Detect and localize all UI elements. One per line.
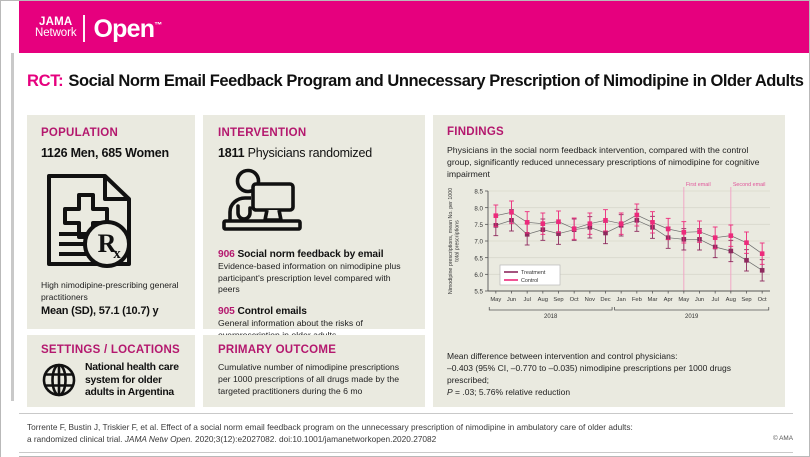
citation-journal: JAMA Netw Open. xyxy=(125,434,193,444)
citation-doi: 2020;3(12):e2027082. doi:10.1001/jamanet… xyxy=(193,434,437,444)
citation: Torrente F, Bustin J, Triskier F, et al.… xyxy=(27,421,727,445)
population-subtitle: 1126 Men, 685 Women xyxy=(41,146,182,160)
logo-network-text: Network xyxy=(35,28,76,40)
x-axis-year-bracket xyxy=(615,307,769,310)
intervention-arm-title: 905 Control emails xyxy=(218,306,411,317)
y-axis-title: total prescriptions xyxy=(454,220,460,262)
x-axis-year-label: 2019 xyxy=(685,314,699,320)
x-axis-tick-label: Sep xyxy=(553,297,563,303)
intervention-arm-count: 905 xyxy=(218,306,235,317)
population-footnote-text: High nimodipine-prescribing general prac… xyxy=(41,280,185,303)
copyright-notice: © AMA xyxy=(773,435,793,442)
x-axis-tick-label: Oct xyxy=(570,297,579,303)
globe-icon xyxy=(41,362,77,403)
x-axis-tick-label: May xyxy=(490,297,501,303)
population-footnote: High nimodipine-prescribing general prac… xyxy=(41,280,185,317)
legend-label: Control xyxy=(521,278,538,284)
y-axis-title: Nimodipine prescriptions, mean No. per 1… xyxy=(448,188,454,294)
findings-footer-line3: P = .03; 5.76% relative reduction xyxy=(447,386,773,398)
x-axis-tick-label: Feb xyxy=(632,297,642,303)
citation-line1: Torrente F, Bustin J, Triskier F, et al.… xyxy=(27,421,727,433)
legend-label: Treatment xyxy=(521,270,546,276)
page-title: RCT: Social Norm Email Feedback Program … xyxy=(27,67,795,95)
data-point-marker xyxy=(729,233,734,238)
physician-at-computer-icon xyxy=(220,168,411,239)
logo-open-wordmark: Open™ xyxy=(85,17,161,42)
chart-series-control xyxy=(493,201,764,264)
x-axis-tick-label: Nov xyxy=(585,297,595,303)
y-axis-tick-label: 6.0 xyxy=(474,272,483,279)
x-axis-tick-label: Jul xyxy=(711,297,718,303)
p-value-text: = .03; 5.76% relative reduction xyxy=(453,387,570,397)
y-axis-tick-label: 6.5 xyxy=(474,255,483,262)
logo-trademark: ™ xyxy=(154,20,161,29)
intervention-randomized-count: 1811 xyxy=(218,146,244,160)
data-point-marker xyxy=(541,221,546,226)
citation-line2: a randomized clinical trial. JAMA Netw O… xyxy=(27,433,727,445)
title-text: Social Norm Email Feedback Program and U… xyxy=(68,72,803,91)
outcome-heading: PRIMARY OUTCOME xyxy=(218,344,413,356)
data-point-marker xyxy=(682,230,687,235)
data-point-marker xyxy=(619,221,624,226)
findings-footer-line1: Mean difference between intervention and… xyxy=(447,350,773,362)
settings-text: National health care system for older ad… xyxy=(85,362,185,400)
findings-description: Physicians in the social norm feedback i… xyxy=(447,144,772,180)
findings-footer-line2: –0.403 (95% CI, –0.770 to –0.035) nimodi… xyxy=(447,362,773,386)
intervention-arm-description: Evidence-based information on nimodipine… xyxy=(218,261,411,296)
data-point-marker xyxy=(697,229,702,234)
left-accent-strip xyxy=(1,1,19,457)
jama-network-open-logo[interactable]: JAMA Network Open™ xyxy=(35,13,161,43)
x-axis-tick-label: Aug xyxy=(726,297,736,303)
chart-annotation-label: First email xyxy=(686,182,711,188)
population-panel: POPULATION 1126 Men, 685 Women R x High … xyxy=(27,115,195,329)
footer-divider xyxy=(19,413,793,414)
x-axis-tick-label: Apr xyxy=(664,297,673,303)
findings-chart: 5.56.06.57.07.58.08.5Nimodipine prescrip… xyxy=(442,179,776,325)
left-accent-rule xyxy=(11,53,14,401)
bottom-divider xyxy=(19,452,793,453)
findings-panel: FINDINGS Physicians in the social norm f… xyxy=(433,115,785,407)
y-axis-tick-label: 8.0 xyxy=(474,205,483,212)
series-line xyxy=(496,220,762,270)
y-axis-tick-label: 8.5 xyxy=(474,189,483,196)
data-point-marker xyxy=(494,213,499,218)
logo-open-text: Open xyxy=(93,15,154,43)
citation-line2-pre: a randomized clinical trial. xyxy=(27,434,125,444)
x-axis-tick-label: Dec xyxy=(600,297,610,303)
intervention-arm: 906 Social norm feedback by email Eviden… xyxy=(218,249,411,296)
x-axis-tick-label: Sep xyxy=(741,297,751,303)
data-point-marker xyxy=(713,235,718,240)
intervention-panel: INTERVENTION 1811 Physicians randomized … xyxy=(203,115,425,329)
intervention-arm-title: 906 Social norm feedback by email xyxy=(218,249,411,260)
data-point-marker xyxy=(729,249,734,254)
data-point-marker xyxy=(572,226,577,231)
x-axis-tick-label: Jun xyxy=(695,297,704,303)
data-point-marker xyxy=(760,251,765,256)
prescription-document-icon: R x xyxy=(45,172,182,273)
x-axis-year-label: 2018 xyxy=(544,314,558,320)
intervention-heading: INTERVENTION xyxy=(218,127,411,139)
x-axis-tick-label: Jun xyxy=(507,297,516,303)
population-heading: POPULATION xyxy=(41,127,182,139)
y-axis-tick-label: 5.5 xyxy=(474,289,483,296)
jama-network-wordmark: JAMA Network xyxy=(35,17,83,40)
data-point-marker xyxy=(744,240,749,245)
visual-abstract-page: JAMA Network Open™ RCT: Social Norm Emai… xyxy=(0,0,810,457)
data-point-marker xyxy=(650,220,655,225)
data-point-marker xyxy=(509,210,514,215)
x-axis-tick-label: Aug xyxy=(538,297,548,303)
x-axis-tick-label: Jan xyxy=(616,297,625,303)
x-axis-year-bracket xyxy=(489,307,612,310)
y-axis-tick-label: 7.5 xyxy=(474,222,483,229)
x-axis-tick-label: Mar xyxy=(648,297,658,303)
title-study-type: RCT: xyxy=(27,72,63,91)
intervention-randomized-label: Physicians randomized xyxy=(248,146,372,160)
data-point-marker xyxy=(525,220,530,225)
masthead: JAMA Network Open™ xyxy=(19,1,809,53)
outcome-description: Cumulative number of nimodipine prescrip… xyxy=(218,362,413,397)
data-point-marker xyxy=(635,213,640,218)
data-point-marker xyxy=(744,258,749,263)
data-point-marker xyxy=(556,219,561,224)
intervention-subtitle: 1811 Physicians randomized xyxy=(218,146,411,160)
data-point-marker xyxy=(666,227,671,232)
x-axis-tick-label: Oct xyxy=(758,297,767,303)
population-age-stat: Mean (SD), 57.1 (10.7) y xyxy=(41,305,185,317)
series-line xyxy=(496,212,762,253)
prescriptions-over-time-line-chart: 5.56.06.57.07.58.08.5Nimodipine prescrip… xyxy=(442,179,776,325)
intervention-arm-label: Social norm feedback by email xyxy=(237,249,383,260)
intervention-arm-label: Control emails xyxy=(237,306,306,317)
chart-annotation-label: Second email xyxy=(733,182,766,188)
primary-outcome-panel: PRIMARY OUTCOME Cumulative number of nim… xyxy=(203,335,425,407)
svg-text:x: x xyxy=(113,246,121,262)
data-point-marker xyxy=(588,221,593,226)
data-point-marker xyxy=(760,268,765,273)
findings-heading: FINDINGS xyxy=(447,126,772,138)
data-point-marker xyxy=(603,218,608,223)
intervention-arm-count: 906 xyxy=(218,249,235,260)
x-axis-tick-label: May xyxy=(678,297,689,303)
settings-heading: SETTINGS / LOCATIONS xyxy=(41,344,185,356)
findings-footer: Mean difference between intervention and… xyxy=(447,350,773,398)
x-axis-tick-label: Jul xyxy=(523,297,530,303)
settings-locations-panel: SETTINGS / LOCATIONS National health car… xyxy=(27,335,195,407)
y-axis-tick-label: 7.0 xyxy=(474,239,483,246)
